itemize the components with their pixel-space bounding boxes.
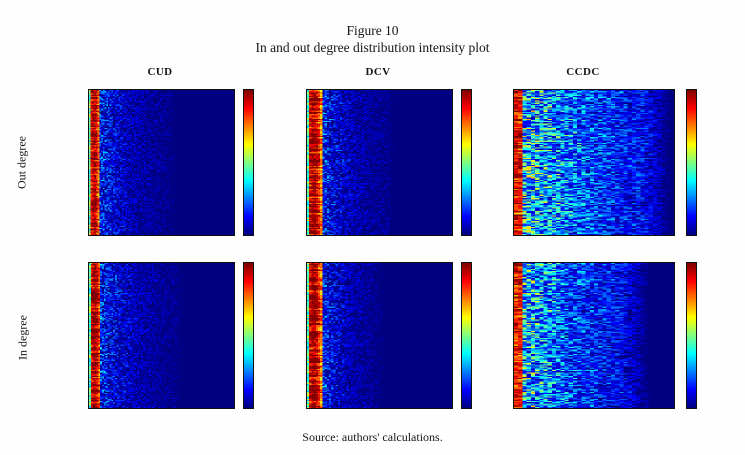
colorbar-tick-label-3: 3 [471, 307, 472, 312]
x-axis-tick [640, 408, 641, 409]
x-axis-tick [535, 408, 536, 409]
y-axis-tick [306, 342, 307, 343]
colorbar-tick [253, 268, 254, 269]
y-axis-tick [88, 169, 89, 170]
y-axis-tick [306, 305, 307, 306]
y-axis-tick [513, 342, 514, 343]
colorbar-tick-label-0: 0 [696, 405, 697, 409]
colorbar-gradient [462, 263, 471, 408]
colorbar-tick [696, 156, 697, 157]
y-axis-tick [513, 317, 514, 318]
colorbar-tick-label-1p5: 1.5 [253, 353, 254, 358]
y-axis-tick [513, 96, 514, 97]
colorbar-tick [471, 342, 472, 343]
heatmap-canvas [514, 263, 674, 408]
heatmap-canvas [89, 263, 234, 408]
x-axis-tick [598, 408, 599, 409]
y-axis-tick [306, 378, 307, 379]
colorbar-tick [471, 120, 472, 121]
y-axis-tick [306, 281, 307, 282]
x-axis-tick [175, 235, 176, 236]
colorbar-tick [471, 309, 472, 310]
x-axis-tick [163, 408, 164, 409]
y-axis-tick [306, 181, 307, 182]
colorbar-tick [696, 209, 697, 210]
y-axis-tick [513, 144, 514, 145]
x-axis-tick [227, 235, 228, 236]
figure-caption: In and out degree distribution intensity… [0, 39, 745, 56]
heatmap-canvas [89, 90, 234, 235]
heatmap-canvas [514, 90, 674, 235]
heatmap-image-ccdc-in: JanFebMarAprMayJunJulAugSepOctNovDec5101… [513, 262, 675, 409]
y-axis-tick [306, 96, 307, 97]
x-axis-tick [124, 235, 125, 236]
y-axis-tick [306, 366, 307, 367]
y-axis-tick [306, 329, 307, 330]
colorbar-tick [471, 326, 472, 327]
column-header-cud: CUD [100, 66, 220, 78]
colorbar-gradient [244, 263, 253, 408]
colorbar-tick [253, 303, 254, 304]
colorbar-tick [471, 359, 472, 360]
colorbar-tick-label-4: 4 [253, 266, 254, 271]
y-axis-tick [306, 390, 307, 391]
colorbar-tick [253, 286, 254, 287]
y-axis-tick [513, 108, 514, 109]
colorbar-tick-label-1: 1 [696, 180, 697, 185]
colorbar-tick [471, 103, 472, 104]
y-axis-tick [88, 293, 89, 294]
heatmap-canvas [307, 263, 452, 408]
colorbar-tick-label-2p5: 2.5 [471, 323, 472, 328]
x-axis-tick [108, 408, 109, 409]
x-axis-tick [182, 408, 183, 409]
x-axis-tick [145, 408, 146, 409]
x-axis-tick [556, 408, 557, 409]
colorbar-tick-label-0p5: 0.5 [253, 388, 254, 393]
colorbar-tick [253, 408, 254, 409]
colorbar-tick-label-3p5: 3.5 [253, 109, 254, 114]
colorbar-tick-label-1p5: 1.5 [696, 153, 697, 158]
colorbar-tick [471, 186, 472, 187]
x-axis-tick [395, 408, 396, 409]
colorbar-tick [471, 136, 472, 137]
figure-number: Figure 10 [0, 22, 745, 39]
heatmap-canvas [307, 90, 452, 235]
colorbar-tick [253, 321, 254, 322]
colorbar-tick [696, 103, 697, 104]
y-axis-tick [306, 144, 307, 145]
y-axis-tick [513, 293, 514, 294]
y-axis-tick [88, 193, 89, 194]
x-axis-tick [351, 408, 352, 409]
y-axis-tick [88, 205, 89, 206]
colorbar-tick-label-1p5: 1.5 [253, 179, 254, 184]
y-axis-tick [513, 156, 514, 157]
colorbar-tick-label-3: 3 [253, 301, 254, 306]
x-axis-tick [351, 235, 352, 236]
y-axis-tick [513, 205, 514, 206]
colorbar-ccdc-out: 00.511.522.5 [686, 89, 697, 236]
colorbar-tick [696, 182, 697, 183]
colorbar-tick-label-2p5: 2.5 [696, 276, 697, 281]
colorbar-tick-label-2: 2 [696, 302, 697, 307]
y-axis-tick [513, 181, 514, 182]
x-axis-tick [373, 408, 374, 409]
colorbar-cud-in: 00.511.522.533.54 [243, 262, 254, 409]
y-axis-tick [306, 169, 307, 170]
x-axis-tick [201, 408, 202, 409]
colorbar-tick [696, 356, 697, 357]
colorbar-tick [471, 375, 472, 376]
colorbar-tick [253, 200, 254, 201]
colorbar-tick-label-1p5: 1.5 [471, 356, 472, 361]
y-axis-tick [306, 193, 307, 194]
heatmap-image-cud-in: JanFebMarAprMayJunJulAugSepOctNovDec1020… [88, 262, 235, 409]
y-axis-tick [306, 205, 307, 206]
colorbar-tick [253, 94, 254, 95]
colorbar-tick [471, 392, 472, 393]
colorbar-tick [696, 304, 697, 305]
colorbar-tick-label-2p5: 2.5 [471, 150, 472, 155]
colorbar-tick [471, 276, 472, 277]
y-axis-tick [88, 281, 89, 282]
y-axis-tick [88, 217, 89, 218]
colorbar-tick-label-3p5: 3.5 [471, 117, 472, 122]
colorbar-tick-label-2: 2 [253, 336, 254, 341]
colorbar-tick-label-2p5: 2.5 [253, 144, 254, 149]
colorbar-tick-label-3: 3 [253, 126, 254, 131]
y-axis-tick [88, 329, 89, 330]
y-axis-tick [88, 366, 89, 367]
x-axis-tick [126, 408, 127, 409]
y-axis-tick [513, 329, 514, 330]
colorbar-ccdc-in: 00.511.522.5 [686, 262, 697, 409]
x-axis-tick [661, 408, 662, 409]
colorbar-tick [253, 182, 254, 183]
colorbar-cud-out: 00.511.522.533.54 [243, 89, 254, 236]
colorbar-tick-label-0: 0 [253, 405, 254, 409]
y-axis-tick [306, 217, 307, 218]
x-axis-tick [210, 235, 211, 236]
x-axis-tick [439, 408, 440, 409]
colorbar-tick [253, 391, 254, 392]
y-axis-tick [513, 269, 514, 270]
y-axis-tick [88, 269, 89, 270]
colorbar-tick-label-2: 2 [253, 162, 254, 167]
colorbar-tick [471, 153, 472, 154]
y-axis-tick [306, 354, 307, 355]
x-axis-tick [556, 235, 557, 236]
x-axis-tick [329, 235, 330, 236]
y-axis-tick [306, 132, 307, 133]
heatmap-image-dcv-out: JanFebMarAprMayJunJulAugSepOctNovDec1020… [306, 89, 453, 236]
y-axis-tick [88, 132, 89, 133]
colorbar-tick-label-0p5: 0.5 [696, 379, 697, 384]
x-axis-tick [577, 408, 578, 409]
y-axis-tick [88, 156, 89, 157]
colorbar-tick [253, 164, 254, 165]
colorbar-tick [696, 279, 697, 280]
heatmap-image-ccdc-out: JanFebMarAprMayJunJulAugSepOctNovDec5101… [513, 89, 675, 236]
colorbar-tick [471, 202, 472, 203]
colorbar-tick-label-4: 4 [253, 91, 254, 96]
y-axis-tick [513, 281, 514, 282]
colorbar-tick-label-3: 3 [471, 134, 472, 139]
colorbar-tick [253, 217, 254, 218]
y-axis-tick [513, 390, 514, 391]
colorbar-gradient [462, 90, 471, 235]
colorbar-tick [253, 147, 254, 148]
y-axis-tick [513, 229, 514, 230]
heatmap-image-dcv-in: JanFebMarAprMayJunJulAugSepOctNovDec1020… [306, 262, 453, 409]
source-note: Source: authors' calculations. [0, 430, 745, 445]
y-axis-tick [513, 354, 514, 355]
y-axis-tick [513, 193, 514, 194]
y-axis-tick [306, 293, 307, 294]
colorbar-tick-label-0p5: 0.5 [253, 215, 254, 220]
colorbar-tick-label-3p5: 3.5 [253, 283, 254, 288]
x-axis-tick [417, 408, 418, 409]
column-header-ccdc: CCDC [523, 66, 643, 78]
colorbar-tick [253, 338, 254, 339]
y-axis-tick [306, 229, 307, 230]
heatmap-image-cud-out: JanFebMarAprMayJunJulAugSepOctNovDec1020… [88, 89, 235, 236]
colorbar-tick-label-2: 2 [696, 127, 697, 132]
x-axis-tick [577, 235, 578, 236]
x-axis-tick [619, 235, 620, 236]
x-axis-tick [535, 235, 536, 236]
y-axis-tick [513, 305, 514, 306]
x-axis-tick [193, 235, 194, 236]
y-axis-tick [88, 305, 89, 306]
y-axis-tick [513, 132, 514, 133]
y-axis-tick [88, 181, 89, 182]
colorbar-tick-label-4: 4 [471, 101, 472, 106]
x-axis-tick [439, 235, 440, 236]
row-label-in-degree: In degree [16, 288, 31, 388]
y-axis-tick [88, 342, 89, 343]
y-axis-tick [88, 96, 89, 97]
colorbar-tick [253, 373, 254, 374]
y-axis-tick [513, 217, 514, 218]
y-axis-tick [513, 169, 514, 170]
colorbar-tick [696, 330, 697, 331]
y-axis-tick [306, 269, 307, 270]
y-axis-tick [306, 120, 307, 121]
y-axis-tick [88, 402, 89, 403]
colorbar-tick [696, 408, 697, 409]
x-axis-tick [373, 235, 374, 236]
colorbar-gradient [687, 90, 696, 235]
colorbar-tick-label-2: 2 [471, 166, 472, 171]
colorbar-tick-label-1p5: 1.5 [696, 328, 697, 333]
y-axis-tick [88, 354, 89, 355]
colorbar-gradient [687, 263, 696, 408]
x-axis-tick [141, 235, 142, 236]
y-axis-tick [88, 108, 89, 109]
colorbar-tick [253, 235, 254, 236]
y-axis-tick [513, 378, 514, 379]
colorbar-tick [696, 382, 697, 383]
colorbar-tick-label-1: 1 [471, 199, 472, 204]
colorbar-tick [471, 219, 472, 220]
colorbar-tick-label-2p5: 2.5 [253, 318, 254, 323]
y-axis-tick [88, 317, 89, 318]
figure-title-block: Figure 10 In and out degree distribution… [0, 22, 745, 56]
colorbar-tick [253, 129, 254, 130]
colorbar-tick-label-2p5: 2.5 [696, 101, 697, 106]
x-axis-tick [329, 408, 330, 409]
y-axis-tick [513, 366, 514, 367]
x-axis-tick [619, 408, 620, 409]
colorbar-tick-label-1: 1 [471, 372, 472, 377]
colorbar-dcv-out: 0.511.522.533.54 [461, 89, 472, 236]
colorbar-tick [696, 130, 697, 131]
y-axis-tick [513, 402, 514, 403]
x-axis-tick [661, 235, 662, 236]
colorbar-tick-label-2: 2 [471, 339, 472, 344]
row-label-out-degree: Out degree [15, 113, 30, 213]
colorbar-tick-label-4: 4 [471, 274, 472, 279]
colorbar-tick-label-1: 1 [253, 370, 254, 375]
colorbar-tick-label-0p5: 0.5 [471, 389, 472, 394]
colorbar-tick-label-0p5: 0.5 [696, 206, 697, 211]
colorbar-tick-label-1: 1 [253, 197, 254, 202]
colorbar-tick [696, 235, 697, 236]
colorbar-tick-label-0p5: 0.5 [471, 216, 472, 221]
colorbar-tick-label-3p5: 3.5 [471, 290, 472, 295]
x-axis-tick [219, 408, 220, 409]
figure-canvas: Figure 10 In and out degree distribution… [0, 0, 745, 455]
y-axis-tick [306, 108, 307, 109]
colorbar-tick [253, 111, 254, 112]
column-header-dcv: DCV [318, 66, 438, 78]
y-axis-tick [88, 390, 89, 391]
y-axis-tick [88, 120, 89, 121]
x-axis-tick [395, 235, 396, 236]
y-axis-tick [306, 317, 307, 318]
colorbar-tick [471, 293, 472, 294]
x-axis-tick [106, 235, 107, 236]
y-axis-tick [513, 120, 514, 121]
colorbar-gradient [244, 90, 253, 235]
colorbar-dcv-in: 0.511.522.533.54 [461, 262, 472, 409]
colorbar-tick [471, 169, 472, 170]
colorbar-tick-label-1: 1 [696, 354, 697, 359]
x-axis-tick [598, 235, 599, 236]
y-axis-tick [88, 229, 89, 230]
x-axis-tick [640, 235, 641, 236]
colorbar-tick [253, 356, 254, 357]
x-axis-tick [417, 235, 418, 236]
y-axis-tick [88, 378, 89, 379]
colorbar-tick-label-1p5: 1.5 [471, 183, 472, 188]
colorbar-tick-label-0: 0 [253, 232, 254, 236]
colorbar-tick-label-0: 0 [696, 232, 697, 236]
x-axis-tick [158, 235, 159, 236]
y-axis-tick [306, 156, 307, 157]
y-axis-tick [88, 144, 89, 145]
y-axis-tick [306, 402, 307, 403]
